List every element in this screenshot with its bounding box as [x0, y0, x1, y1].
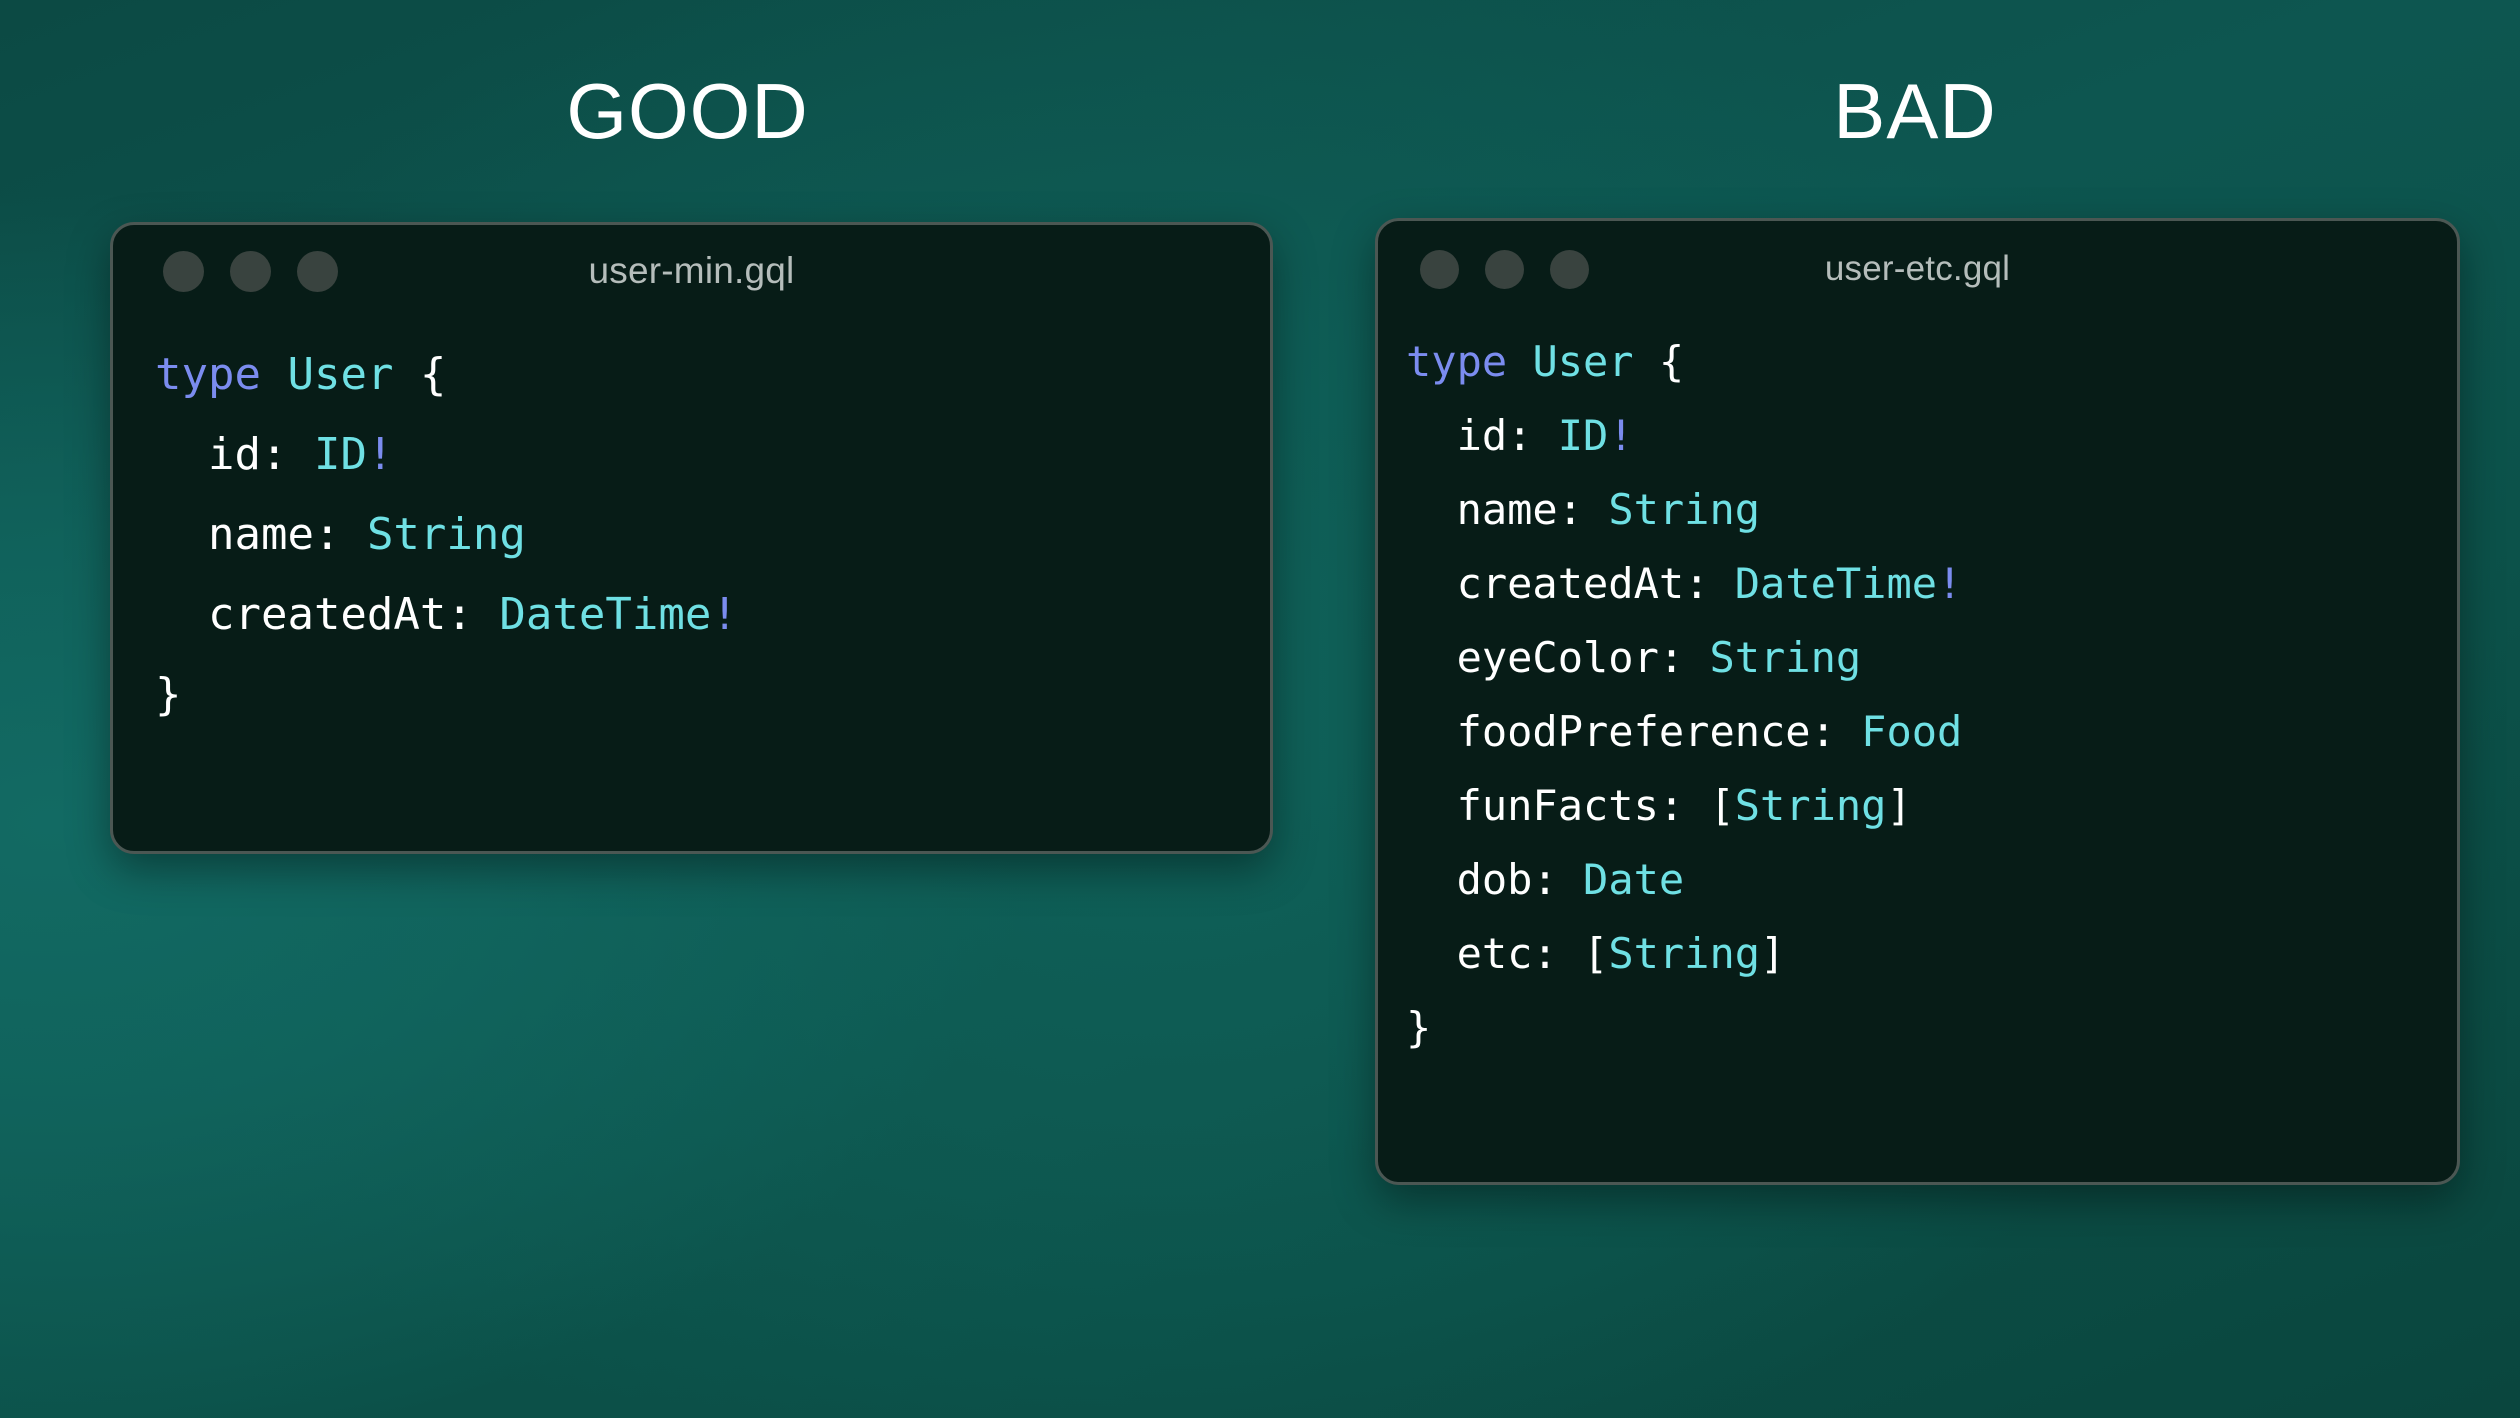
code-token-bang: ! [711, 589, 738, 640]
code-token-punct [1684, 633, 1709, 682]
traffic-light-minimize-icon[interactable] [230, 251, 271, 292]
code-line: type User { [1406, 325, 2457, 399]
code-token-field: id: [1457, 411, 1533, 460]
window-titlebar-good: user-min.gql [113, 225, 1270, 317]
code-token-punct: { [1634, 337, 1685, 386]
code-token-punct: ] [1760, 929, 1785, 978]
code-token-punct [1709, 559, 1734, 608]
code-line: type User { [155, 335, 1270, 415]
code-token-punct [1532, 411, 1557, 460]
code-line: createdAt: DateTime! [1406, 547, 2457, 621]
code-token-type: User [287, 349, 393, 400]
column-bad: BAD user-etc.gql type User { id: ID! nam… [1375, 0, 2460, 150]
code-token-punct: [ [1583, 929, 1608, 978]
code-token-field: funFacts: [1457, 781, 1685, 830]
code-token-punct: } [155, 669, 182, 720]
code-line: name: String [155, 495, 1270, 575]
code-token-punct [1558, 929, 1583, 978]
code-token-kw: type [155, 349, 261, 400]
code-token-punct [287, 429, 314, 480]
column-good: GOOD user-min.gql type User { id: ID! na… [110, 0, 1290, 150]
code-token-field: createdAt: [208, 589, 473, 640]
code-block-bad: type User { id: ID! name: String created… [1378, 317, 2457, 1065]
code-token-type: String [1608, 929, 1760, 978]
code-line: eyeColor: String [1406, 621, 2457, 695]
code-token-type: String [1709, 633, 1861, 682]
traffic-light-close-icon[interactable] [1420, 250, 1459, 289]
code-token-field: id: [208, 429, 287, 480]
code-line: funFacts: [String] [1406, 769, 2457, 843]
code-token-field: createdAt: [1457, 559, 1710, 608]
code-line: createdAt: DateTime! [155, 575, 1270, 655]
heading-good: GOOD [110, 72, 1265, 150]
code-token-punct [340, 509, 367, 560]
code-token-field: foodPreference: [1457, 707, 1836, 756]
code-window-bad: user-etc.gql type User { id: ID! name: S… [1375, 218, 2460, 1185]
window-titlebar-bad: user-etc.gql [1378, 221, 2457, 317]
code-token-type: Date [1583, 855, 1684, 904]
code-token-punct [1583, 485, 1608, 534]
code-token-punct: [ [1709, 781, 1734, 830]
code-token-type: ID [1558, 411, 1609, 460]
code-token-field: etc: [1457, 929, 1558, 978]
traffic-lights-good [163, 251, 338, 292]
traffic-light-close-icon[interactable] [163, 251, 204, 292]
code-token-type: DateTime [1735, 559, 1937, 608]
traffic-lights-bad [1420, 250, 1589, 289]
code-line: id: ID! [155, 415, 1270, 495]
code-token-punct [473, 589, 500, 640]
code-line: etc: [String] [1406, 917, 2457, 991]
traffic-light-zoom-icon[interactable] [1550, 250, 1589, 289]
code-token-type: Food [1861, 707, 1962, 756]
code-token-field: name: [1457, 485, 1583, 534]
code-token-punct [1558, 855, 1583, 904]
code-token-punct: ] [1886, 781, 1911, 830]
code-token-type: String [1608, 485, 1760, 534]
code-token-punct [261, 349, 288, 400]
code-line: foodPreference: Food [1406, 695, 2457, 769]
code-token-kw: type [1406, 337, 1507, 386]
code-token-punct [1836, 707, 1861, 756]
code-token-type: ID [314, 429, 367, 480]
code-token-bang: ! [1608, 411, 1633, 460]
code-token-punct: } [1406, 1003, 1431, 1052]
code-block-good: type User { id: ID! name: String created… [113, 317, 1270, 735]
code-token-type: String [367, 509, 526, 560]
heading-bad: BAD [1375, 72, 2455, 150]
traffic-light-zoom-icon[interactable] [297, 251, 338, 292]
code-token-bang: ! [367, 429, 394, 480]
code-line: id: ID! [1406, 399, 2457, 473]
code-token-type: User [1532, 337, 1633, 386]
code-token-type: DateTime [499, 589, 711, 640]
comparison-stage: GOOD user-min.gql type User { id: ID! na… [0, 0, 2520, 1418]
code-token-type: String [1735, 781, 1887, 830]
traffic-light-minimize-icon[interactable] [1485, 250, 1524, 289]
code-token-field: eyeColor: [1457, 633, 1685, 682]
code-line: } [1406, 991, 2457, 1065]
code-token-bang: ! [1937, 559, 1962, 608]
code-token-punct: { [393, 349, 446, 400]
code-line: name: String [1406, 473, 2457, 547]
code-token-field: name: [208, 509, 340, 560]
code-line: dob: Date [1406, 843, 2457, 917]
code-line: } [155, 655, 1270, 735]
code-token-punct [1684, 781, 1709, 830]
code-token-field: dob: [1457, 855, 1558, 904]
code-token-punct [1507, 337, 1532, 386]
code-window-good: user-min.gql type User { id: ID! name: S… [110, 222, 1273, 854]
